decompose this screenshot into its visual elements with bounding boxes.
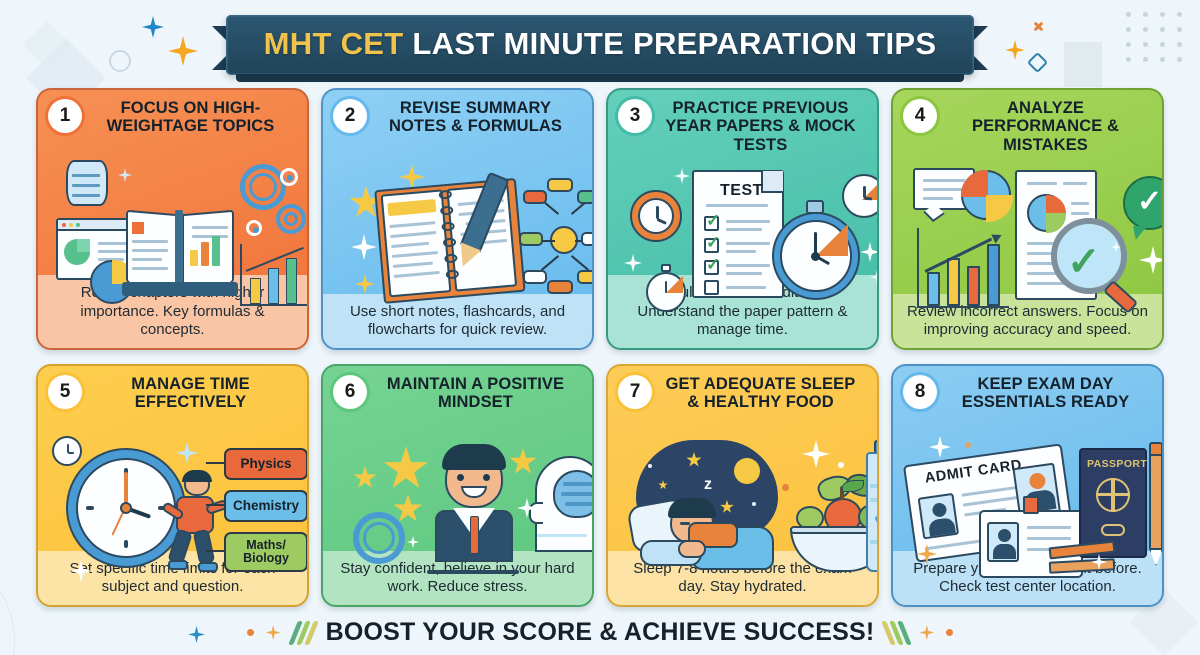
tip-card-5[interactable]: 5 MANAGE TIME EFFECTIVELY xyxy=(36,364,309,607)
gear-icon xyxy=(240,164,286,210)
tip-card-5-illustration: Physics Chemistry Maths/ Biology xyxy=(48,432,297,551)
tip-card-1-title: FOCUS ON HIGH-WEIGHTAGE TOPICS xyxy=(88,98,297,136)
tip-number-badge: 1 xyxy=(48,99,82,133)
running-person-icon xyxy=(166,472,228,572)
tip-card-7-body: 7 GET ADEQUATE SLEEP & HEALTHY FOOD z xyxy=(606,364,879,551)
subject-tag-maths-biology[interactable]: Maths/ Biology xyxy=(224,532,308,572)
sparkle-icon xyxy=(919,625,934,640)
tip-card-2-title: REVISE SUMMARY NOTES & FORMULAS xyxy=(373,98,582,136)
decorative-dot xyxy=(247,629,254,636)
decorative-dot xyxy=(946,629,953,636)
tip-card-7-illustration: z xyxy=(618,432,867,551)
water-bottle-icon xyxy=(862,440,879,574)
gear-icon xyxy=(246,220,262,236)
tip-card-6-head: 6 MAINTAIN A POSITIVE MINDSET xyxy=(333,374,582,432)
clock-icon xyxy=(630,190,682,242)
tip-card-4-body: 4 ANALYZE PERFORMANCE & MISTAKES xyxy=(891,88,1164,294)
chevron-right-group-icon xyxy=(886,621,907,645)
mind-map-icon xyxy=(523,184,594,292)
page-title-rest: LAST MINUTE PREPARATION TIPS xyxy=(412,26,936,61)
notebook-icon xyxy=(372,178,526,306)
clock-icon xyxy=(842,174,879,218)
chevron-left-group-icon xyxy=(293,621,314,645)
tip-card-3-title: PRACTICE PREVIOUS YEAR PAPERS & MOCK TES… xyxy=(658,98,867,154)
tip-card-5-title: MANAGE TIME EFFECTIVELY xyxy=(88,374,297,412)
tip-card-2-head: 2 REVISE SUMMARY NOTES & FORMULAS xyxy=(333,98,582,156)
sparkle-icon xyxy=(674,168,690,184)
tip-card-1-body: 1 FOCUS ON HIGH-WEIGHTAGE TOPICS xyxy=(36,88,309,275)
footer-text: BOOST YOUR SCORE & ACHIEVE SUCCESS! xyxy=(326,618,875,647)
sparkle-icon xyxy=(351,234,377,260)
gear-icon xyxy=(280,168,298,186)
tips-grid: 1 FOCUS ON HIGH-WEIGHTAGE TOPICS xyxy=(36,88,1164,607)
tip-card-3-illustration: TEST ✓ ✓ ✓ xyxy=(618,156,867,275)
passport-label: PASSPORT xyxy=(1087,458,1147,470)
sparkle-icon xyxy=(624,254,642,272)
tip-number-badge: 5 xyxy=(48,375,82,409)
tip-card-6-title: MAINTAIN A POSITIVE MINDSET xyxy=(373,374,582,412)
sparkle-icon xyxy=(929,436,951,458)
database-icon xyxy=(66,160,108,206)
footer-banner: BOOST YOUR SCORE & ACHIEVE SUCCESS! xyxy=(0,618,1200,647)
tip-card-7[interactable]: 7 GET ADEQUATE SLEEP & HEALTHY FOOD z xyxy=(606,364,879,607)
tip-card-6-illustration xyxy=(333,432,582,551)
pen-icon xyxy=(1149,442,1163,566)
tip-number-badge: 3 xyxy=(618,99,652,133)
tip-card-8-title: KEEP EXAM DAY ESSENTIALS READY xyxy=(943,374,1152,412)
tip-card-4-illustration: ✓ ✓ xyxy=(903,156,1152,294)
tip-card-1-illustration xyxy=(48,156,297,275)
sparkle-icon xyxy=(407,536,419,548)
page-title-highlight: MHT CET xyxy=(264,26,404,61)
tip-card-8-head: 8 KEEP EXAM DAY ESSENTIALS READY xyxy=(903,374,1152,432)
gear-icon xyxy=(276,204,306,234)
tip-number-badge: 2 xyxy=(333,99,367,133)
tip-card-7-head: 7 GET ADEQUATE SLEEP & HEALTHY FOOD xyxy=(618,374,867,432)
tip-card-5-body: 5 MANAGE TIME EFFECTIVELY xyxy=(36,364,309,551)
tip-number-badge: 7 xyxy=(618,375,652,409)
tip-card-2[interactable]: 2 REVISE SUMMARY NOTES & FORMULAS xyxy=(321,88,594,350)
tip-number-badge: 8 xyxy=(903,375,937,409)
open-book-icon xyxy=(126,208,234,292)
subject-tag-chemistry[interactable]: Chemistry xyxy=(224,490,308,522)
tip-number-badge: 4 xyxy=(903,99,937,133)
tip-card-7-title: GET ADEQUATE SLEEP & HEALTHY FOOD xyxy=(658,374,867,412)
tip-card-2-caption: Use short notes, flashcards, and flowcha… xyxy=(321,294,594,351)
sparkle-icon xyxy=(266,625,281,640)
tip-card-3[interactable]: 3 PRACTICE PREVIOUS YEAR PAPERS & MOCK T… xyxy=(606,88,879,350)
tip-card-5-head: 5 MANAGE TIME EFFECTIVELY xyxy=(48,374,297,432)
trend-up-icon xyxy=(240,244,309,306)
gear-icon xyxy=(353,512,405,564)
page-title: MHT CET LAST MINUTE PREPARATION TIPS xyxy=(264,26,937,62)
tip-card-4-head: 4 ANALYZE PERFORMANCE & MISTAKES xyxy=(903,98,1152,156)
header-ribbon: MHT CET LAST MINUTE PREPARATION TIPS xyxy=(0,12,1200,78)
tip-card-3-head: 3 PRACTICE PREVIOUS YEAR PAPERS & MOCK T… xyxy=(618,98,867,156)
sparkle-icon xyxy=(118,168,132,182)
tip-card-6[interactable]: 6 MAINTAIN A POSITIVE MINDSET xyxy=(321,364,594,607)
tip-card-2-illustration xyxy=(333,156,582,294)
tip-card-4[interactable]: 4 ANALYZE PERFORMANCE & MISTAKES xyxy=(891,88,1164,350)
ribbon-banner: MHT CET LAST MINUTE PREPARATION TIPS xyxy=(226,15,975,75)
star-icon xyxy=(383,446,429,492)
tip-card-8-illustration: ADMIT CARD xyxy=(903,432,1152,551)
tip-card-8-body: 8 KEEP EXAM DAY ESSENTIALS READY ADMIT C… xyxy=(891,364,1164,551)
tip-card-1[interactable]: 1 FOCUS ON HIGH-WEIGHTAGE TOPICS xyxy=(36,88,309,350)
star-icon xyxy=(353,466,377,490)
tip-card-4-title: ANALYZE PERFORMANCE & MISTAKES xyxy=(943,98,1152,154)
tip-number-badge: 6 xyxy=(333,375,367,409)
tip-card-1-head: 1 FOCUS ON HIGH-WEIGHTAGE TOPICS xyxy=(48,98,297,156)
bar-chart-icon xyxy=(917,228,1009,308)
smiling-student-icon xyxy=(429,444,519,574)
tip-card-2-body: 2 REVISE SUMMARY NOTES & FORMULAS xyxy=(321,88,594,294)
sparkle-icon xyxy=(802,440,830,468)
brain-head-icon xyxy=(529,456,594,560)
stopwatch-icon xyxy=(644,264,688,312)
tip-card-6-body: 6 MAINTAIN A POSITIVE MINDSET xyxy=(321,364,594,551)
stopwatch-icon xyxy=(768,200,864,304)
subject-tag-physics[interactable]: Physics xyxy=(224,448,308,480)
check-badge-icon: ✓ xyxy=(1123,176,1164,234)
sparkle-icon xyxy=(355,274,375,294)
tip-card-8[interactable]: 8 KEEP EXAM DAY ESSENTIALS READY ADMIT C… xyxy=(891,364,1164,607)
sleep-z-label: z xyxy=(704,476,712,494)
pie-chart-icon xyxy=(961,170,1011,220)
sleeping-person-icon: z xyxy=(628,440,778,574)
tip-card-3-body: 3 PRACTICE PREVIOUS YEAR PAPERS & MOCK T… xyxy=(606,88,879,275)
